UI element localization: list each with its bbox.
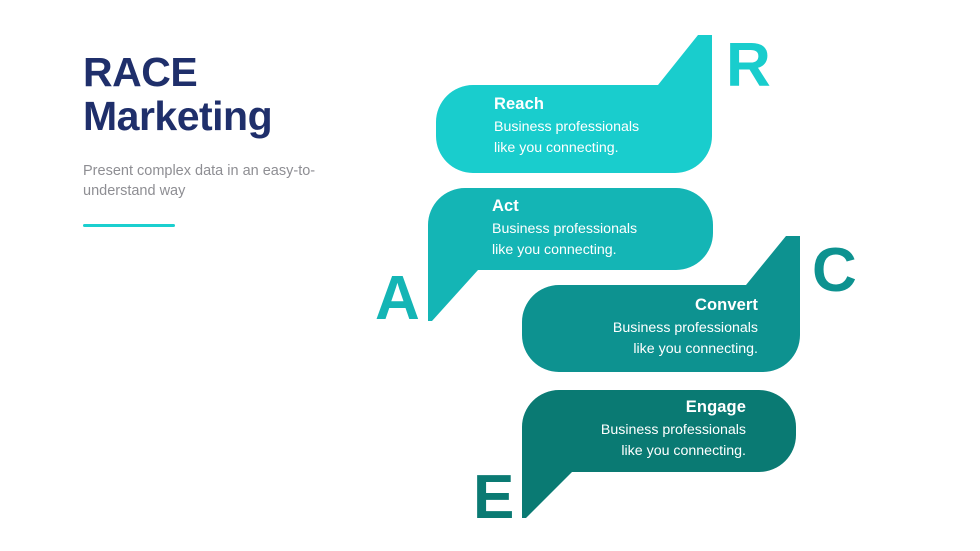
step-title-engage: Engage — [550, 398, 746, 417]
step-title-act: Act — [492, 197, 637, 216]
step-body-convert: Business professionals like you connecti… — [522, 318, 758, 359]
page-title: RACE Marketing — [83, 50, 383, 139]
step-letter-c: C — [812, 240, 857, 302]
accent-underline-divider — [83, 224, 175, 227]
step-letter-e: E — [473, 467, 514, 529]
step-card-text-convert: Convert Business professionals like you … — [522, 296, 758, 359]
slide-canvas: RACE Marketing Present complex data in a… — [0, 0, 980, 551]
step-card-reach[interactable]: Reach Business professionals like you co… — [436, 33, 716, 175]
step-card-engage[interactable]: Engage Business professionals like you c… — [510, 390, 800, 520]
step-letter-r: R — [726, 35, 771, 97]
title-block: RACE Marketing Present complex data in a… — [83, 50, 383, 227]
step-title-convert: Convert — [522, 296, 758, 315]
step-card-text-reach: Reach Business professionals like you co… — [494, 95, 639, 158]
step-body-reach: Business professionals like you connecti… — [494, 117, 639, 158]
step-body-engage: Business professionals like you connecti… — [550, 420, 746, 461]
step-title-reach: Reach — [494, 95, 639, 114]
step-letter-a: A — [375, 268, 420, 330]
page-subtitle: Present complex data in an easy-to-under… — [83, 161, 328, 202]
step-card-text-engage: Engage Business professionals like you c… — [550, 398, 746, 461]
step-card-text-act: Act Business professionals like you conn… — [492, 197, 637, 260]
step-body-act: Business professionals like you connecti… — [492, 219, 637, 260]
